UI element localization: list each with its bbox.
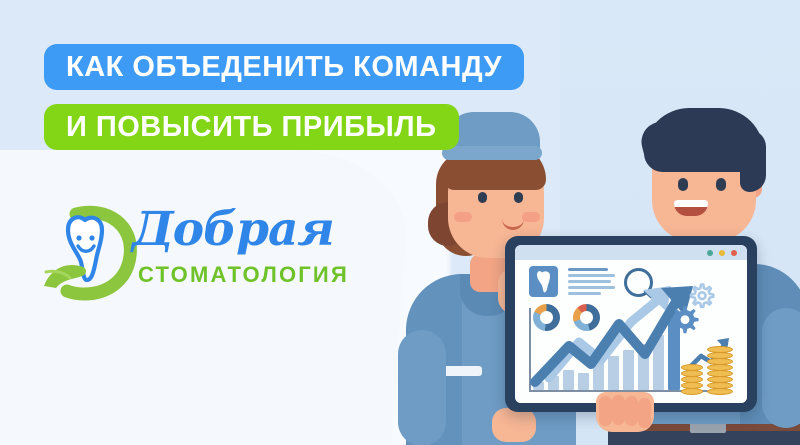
- window-dot-green-icon[interactable]: [707, 250, 713, 256]
- window-dot-yellow-icon[interactable]: [719, 250, 725, 256]
- donut-left-hole: [540, 311, 553, 324]
- brand-logo: Добрая СТОМАТОЛОГИЯ: [34, 196, 334, 312]
- woman-cheek-left: [454, 212, 472, 222]
- bar-6: [608, 356, 619, 390]
- text-line-4: [568, 286, 615, 289]
- man-teeth: [674, 200, 708, 207]
- banner-stage: КАК ОБЪЕДЕНИТЬ КОМАНДУ И ПОВЫСИТЬ ПРИБЫЛ…: [0, 0, 800, 445]
- man-eye-left: [678, 178, 688, 191]
- bar-8: [638, 344, 649, 390]
- woman-cheek-right: [522, 212, 540, 222]
- woman-hand: [492, 408, 536, 442]
- bar-1: [533, 382, 544, 390]
- coin-stack-tall-icon: [707, 344, 735, 396]
- bar-4: [578, 373, 589, 390]
- woman-arm-left: [398, 330, 446, 445]
- bar-9: [653, 335, 664, 390]
- tablet-device[interactable]: [505, 236, 757, 412]
- tooth-icon: [535, 270, 552, 293]
- woman-eye-right: [514, 192, 523, 203]
- bar-5: [593, 363, 604, 390]
- bar-3: [563, 370, 574, 390]
- finger-1: [599, 396, 612, 426]
- finger-4: [638, 398, 651, 428]
- woman-eye-left: [478, 192, 487, 203]
- headline-line-1: КАК ОБЪЕДЕНИТЬ КОМАНДУ: [44, 44, 524, 90]
- text-line-2: [568, 274, 615, 277]
- coin-stack-short-icon: [681, 358, 705, 396]
- hand-supporting-tablet-bottom: [596, 392, 654, 432]
- logo-wordmark: Добрая СТОМАТОЛОГИЯ: [132, 198, 337, 308]
- browser-titlebar: [515, 245, 747, 260]
- logo-script-text: Добрая: [132, 198, 337, 264]
- finger-2: [612, 395, 625, 425]
- logo-subtitle-text: СТОМАТОЛОГИЯ: [138, 262, 349, 288]
- dashboard-canvas: [515, 260, 747, 403]
- bar-2: [548, 376, 559, 390]
- woman-cap-band: [442, 146, 542, 160]
- chart-axis-y: [529, 308, 531, 392]
- finger-3: [625, 396, 638, 426]
- text-line-3: [568, 280, 611, 283]
- bar-7: [623, 350, 634, 390]
- headline-line-2: И ПОВЫСИТЬ ПРИБЫЛЬ: [44, 104, 459, 150]
- donut-chart-right[interactable]: [573, 304, 600, 331]
- text-line-5: [568, 292, 601, 295]
- tablet-screen[interactable]: [515, 245, 747, 403]
- man-arm-right: [762, 308, 800, 428]
- donut-right-hole: [580, 311, 593, 324]
- tooth-in-hand-emblem-icon: [34, 200, 138, 304]
- donut-chart-left[interactable]: [533, 304, 560, 331]
- man-eye-right: [716, 178, 726, 191]
- window-dot-red-icon[interactable]: [731, 250, 737, 256]
- gear-icon-large[interactable]: [667, 304, 701, 343]
- man-hair-side: [740, 130, 766, 192]
- text-line-1: [568, 268, 608, 271]
